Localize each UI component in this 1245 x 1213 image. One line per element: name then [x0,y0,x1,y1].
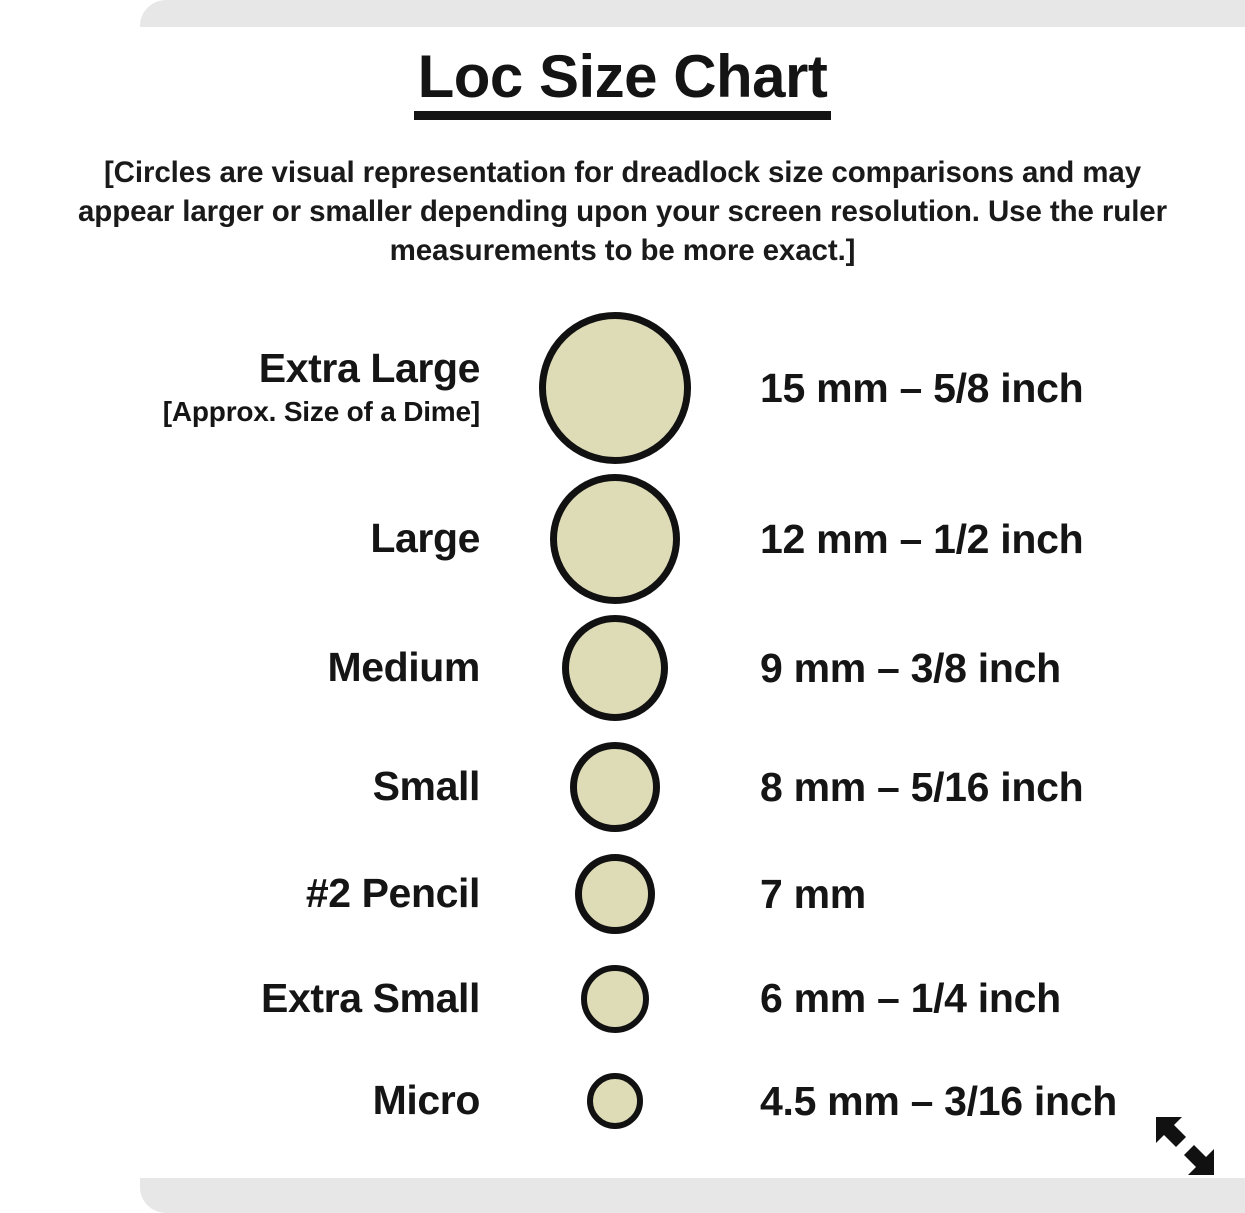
size-label-cell: #2 Pencil [0,872,480,915]
size-circle [550,474,680,604]
size-measurement: 9 mm – 3/8 inch [750,645,1245,692]
size-label: Medium [0,646,480,689]
size-row: #2 Pencil7 mm [0,842,1245,946]
size-circle [581,965,649,1033]
window-chrome-top [140,0,1245,27]
size-circle-cell [480,742,750,832]
size-circle [575,854,655,934]
size-rows-list: Extra Large[Approx. Size of a Dime]15 mm… [0,302,1245,1151]
size-circle [587,1073,643,1129]
size-circle-cell [480,965,750,1033]
size-measurement: 12 mm – 1/2 inch [750,516,1245,563]
size-label: #2 Pencil [0,872,480,915]
size-measurement: 4.5 mm – 3/16 inch [750,1078,1245,1125]
size-measurement: 15 mm – 5/8 inch [750,365,1245,412]
size-row: Large12 mm – 1/2 inch [0,474,1245,604]
size-label: Small [0,765,480,808]
disclaimer-text: [Circles are visual representation for d… [62,153,1183,271]
size-circle [562,615,668,721]
size-sublabel: [Approx. Size of a Dime] [0,394,480,429]
size-row: Extra Small6 mm – 1/4 inch [0,946,1245,1051]
size-circle-cell [480,1073,750,1129]
size-label-cell: Large [0,517,480,560]
title-block: Loc Size Chart [0,45,1245,120]
size-row: Small8 mm – 5/16 inch [0,732,1245,842]
size-label-cell: Extra Small [0,977,480,1020]
size-label-cell: Medium [0,646,480,689]
size-row: Micro4.5 mm – 3/16 inch [0,1051,1245,1151]
size-circle [570,742,660,832]
size-row: Medium9 mm – 3/8 inch [0,604,1245,732]
size-row: Extra Large[Approx. Size of a Dime]15 mm… [0,302,1245,474]
size-label-cell: Micro [0,1079,480,1122]
size-measurement: 8 mm – 5/16 inch [750,764,1245,811]
size-circle-cell [480,615,750,721]
size-measurement: 7 mm [750,871,1245,918]
size-label: Micro [0,1079,480,1122]
size-label-cell: Extra Large[Approx. Size of a Dime] [0,347,480,429]
loc-size-chart-image: Loc Size Chart [Circles are visual repre… [0,27,1245,1178]
page-title: Loc Size Chart [414,45,832,120]
size-circle-cell [480,854,750,934]
size-label-cell: Small [0,765,480,808]
size-label: Extra Large [0,347,480,390]
size-circle-cell [480,312,750,464]
window-chrome-bottom [140,1178,1245,1213]
size-label: Extra Small [0,977,480,1020]
size-circle [539,312,691,464]
size-measurement: 6 mm – 1/4 inch [750,975,1245,1022]
size-circle-cell [480,474,750,604]
size-label: Large [0,517,480,560]
